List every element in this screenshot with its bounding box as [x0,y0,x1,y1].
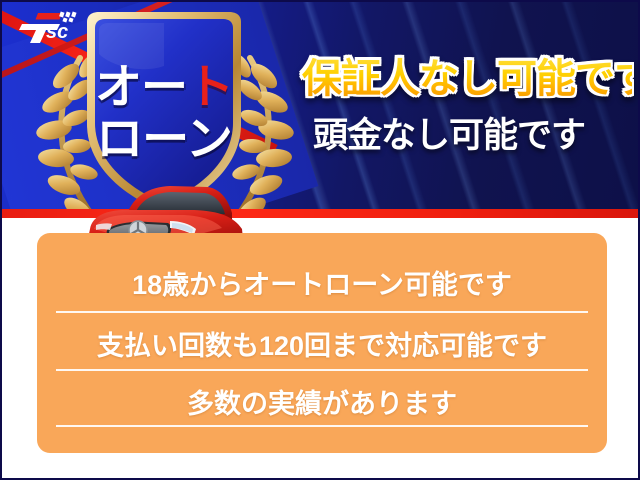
feature-separator-2 [56,369,588,371]
feature-row-1: 18歳からオートローン可能です [37,255,607,310]
headline-secondary: 頭金なし可能です [313,112,633,160]
tsc-logo-icon: sc [16,10,88,44]
feature-text-1: 18歳からオートローン可能です [132,263,512,302]
headline-primary: 保証人なし可能です [302,51,632,107]
feature-text-2: 支払い回数も120回まで対応可能です [97,324,547,363]
feature-row-2: 支払い回数も120回まで対応可能です [37,316,607,371]
feature-row-3: 多数の実績があります [37,374,607,429]
auto-loan-banner: sc [0,0,640,480]
features-list: 18歳からオートローン可能です 支払い回数も120回まで対応可能です 多数の実績… [37,233,607,453]
features-panel: 18歳からオートローン可能です 支払い回数も120回まで対応可能です 多数の実績… [37,233,607,453]
feature-text-3: 多数の実績があります [187,382,457,421]
feature-separator-1 [56,311,588,313]
feature-separator-3 [56,425,588,427]
